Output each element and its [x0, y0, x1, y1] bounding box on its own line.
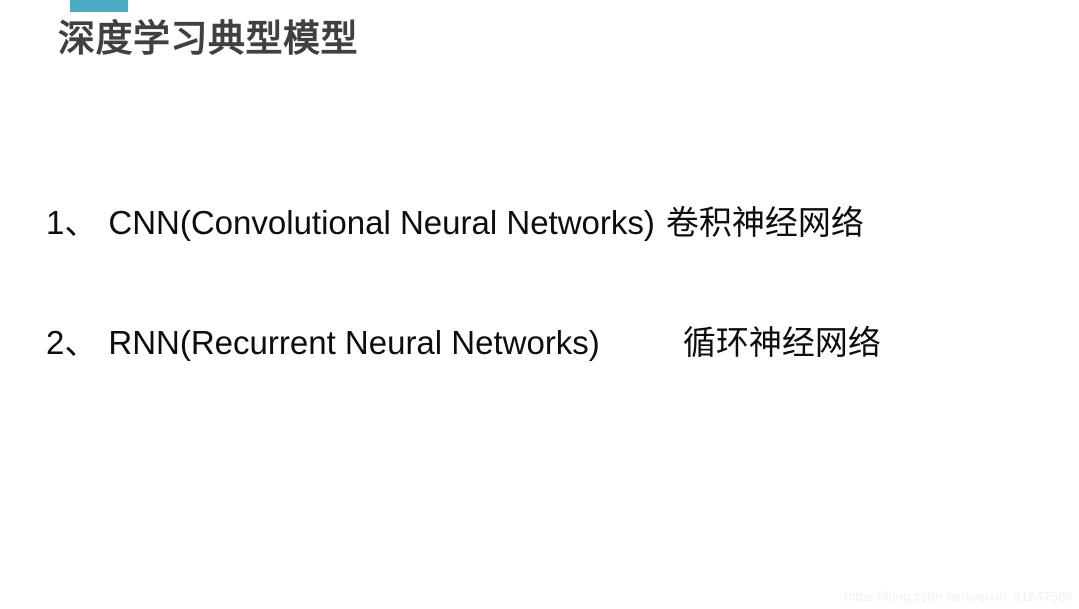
model-list: 1、CNN(Convolutional Neural Networks)卷积神经…: [46, 204, 1036, 362]
list-item-latin-text: RNN(Recurrent Neural Networks): [108, 324, 599, 361]
list-item: 1、CNN(Convolutional Neural Networks)卷积神经…: [46, 204, 1036, 242]
slide-canvas: 深度学习典型模型 1、CNN(Convolutional Neural Netw…: [0, 0, 1079, 609]
list-item-latin-text: CNN(Convolutional Neural Networks): [108, 204, 655, 241]
list-item: 2、RNN(Recurrent Neural Networks)循环神经网络: [46, 324, 1036, 362]
list-item-cjk-text: 循环神经网络: [683, 324, 881, 361]
watermark-text: https://blog.csdn.net/weixin_41647586: [844, 589, 1073, 604]
list-item-cjk-text: 卷积神经网络: [666, 204, 864, 241]
page-title: 深度学习典型模型: [58, 16, 358, 62]
list-item-number: 1、: [46, 204, 97, 241]
list-item-number: 2、: [46, 324, 97, 361]
title-accent-bar: [70, 0, 128, 12]
